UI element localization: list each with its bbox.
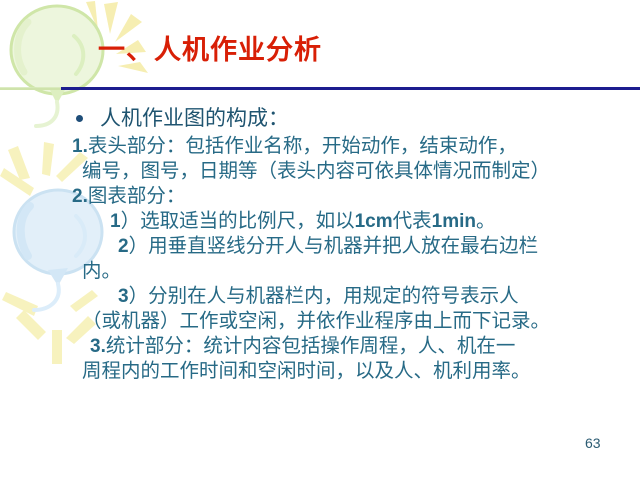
paragraph-number: 1. (72, 136, 88, 157)
paragraph-text: 统计部分：统计内容包括操作周程，人、机在一 (106, 336, 516, 357)
paragraph-number: 2. (72, 186, 88, 207)
page-number: 63 (585, 435, 601, 451)
paragraph-text: 1）选取适当的比例尺，如以1cm代表1min。 (110, 211, 496, 232)
title-row: 一、人机作业分析 (0, 30, 640, 80)
paragraph-text: 表头部分：包括作业名称，开始动作，结束动作， (88, 136, 517, 157)
paragraph-text: 内。 (82, 261, 121, 282)
paragraph-text: 图表部分： (88, 186, 186, 207)
body-content: 人机作业图的构成： 1.表头部分：包括作业名称，开始动作，结束动作，编号，图号，… (0, 104, 640, 384)
paragraph-line: 内。 (0, 259, 640, 284)
latin-run: 1min (432, 211, 476, 232)
paragraph-line: 1）选取适当的比例尺，如以1cm代表1min。 (0, 209, 640, 234)
paragraph-number: 3. (90, 336, 106, 357)
page-title: 一、人机作业分析 (98, 30, 322, 70)
paragraph-text: 2）用垂直竖线分开人与机器并把人放在最右边栏 (118, 236, 538, 257)
title-rule-green (0, 88, 64, 90)
paragraph-text: 编号，图号，日期等（表头内容可依具体情况而制定） (82, 161, 550, 182)
paragraph-list: 1.表头部分：包括作业名称，开始动作，结束动作，编号，图号，日期等（表头内容可依… (0, 134, 640, 384)
slide-canvas: 一、人机作业分析 人机作业图的构成： 1.表头部分：包括作业名称，开始动作，结束… (0, 0, 640, 480)
latin-run: 1 (110, 211, 121, 232)
paragraph-line: 编号，图号，日期等（表头内容可依具体情况而制定） (0, 159, 640, 184)
paragraph-line: 3.统计部分：统计内容包括操作周程，人、机在一 (0, 334, 640, 359)
paragraph-line: 1.表头部分：包括作业名称，开始动作，结束动作， (0, 134, 640, 159)
latin-run: 3 (118, 286, 129, 307)
paragraph-line: 3）分别在人与机器栏内，用规定的符号表示人 (0, 284, 640, 309)
paragraph-text: 周程内的工作时间和空闲时间，以及人、机利用率。 (82, 361, 531, 382)
latin-run: 1cm (355, 211, 393, 232)
paragraph-line: 周程内的工作时间和空闲时间，以及人、机利用率。 (0, 359, 640, 384)
paragraph-line: （或机器）工作或空闲，并依作业程序由上而下记录。 (0, 309, 640, 334)
latin-run: 2 (118, 236, 129, 257)
bullet-heading-label: 人机作业图的构成： (100, 106, 289, 130)
paragraph-line: 2.图表部分： (0, 184, 640, 209)
bullet-dot-icon (76, 115, 83, 122)
paragraph-line: 2）用垂直竖线分开人与机器并把人放在最右边栏 (0, 234, 640, 259)
title-rule-navy (61, 87, 640, 90)
bullet-heading: 人机作业图的构成： (0, 104, 640, 134)
paragraph-text: （或机器）工作或空闲，并依作业程序由上而下记录。 (82, 311, 550, 332)
paragraph-text: 3）分别在人与机器栏内，用规定的符号表示人 (118, 286, 519, 307)
